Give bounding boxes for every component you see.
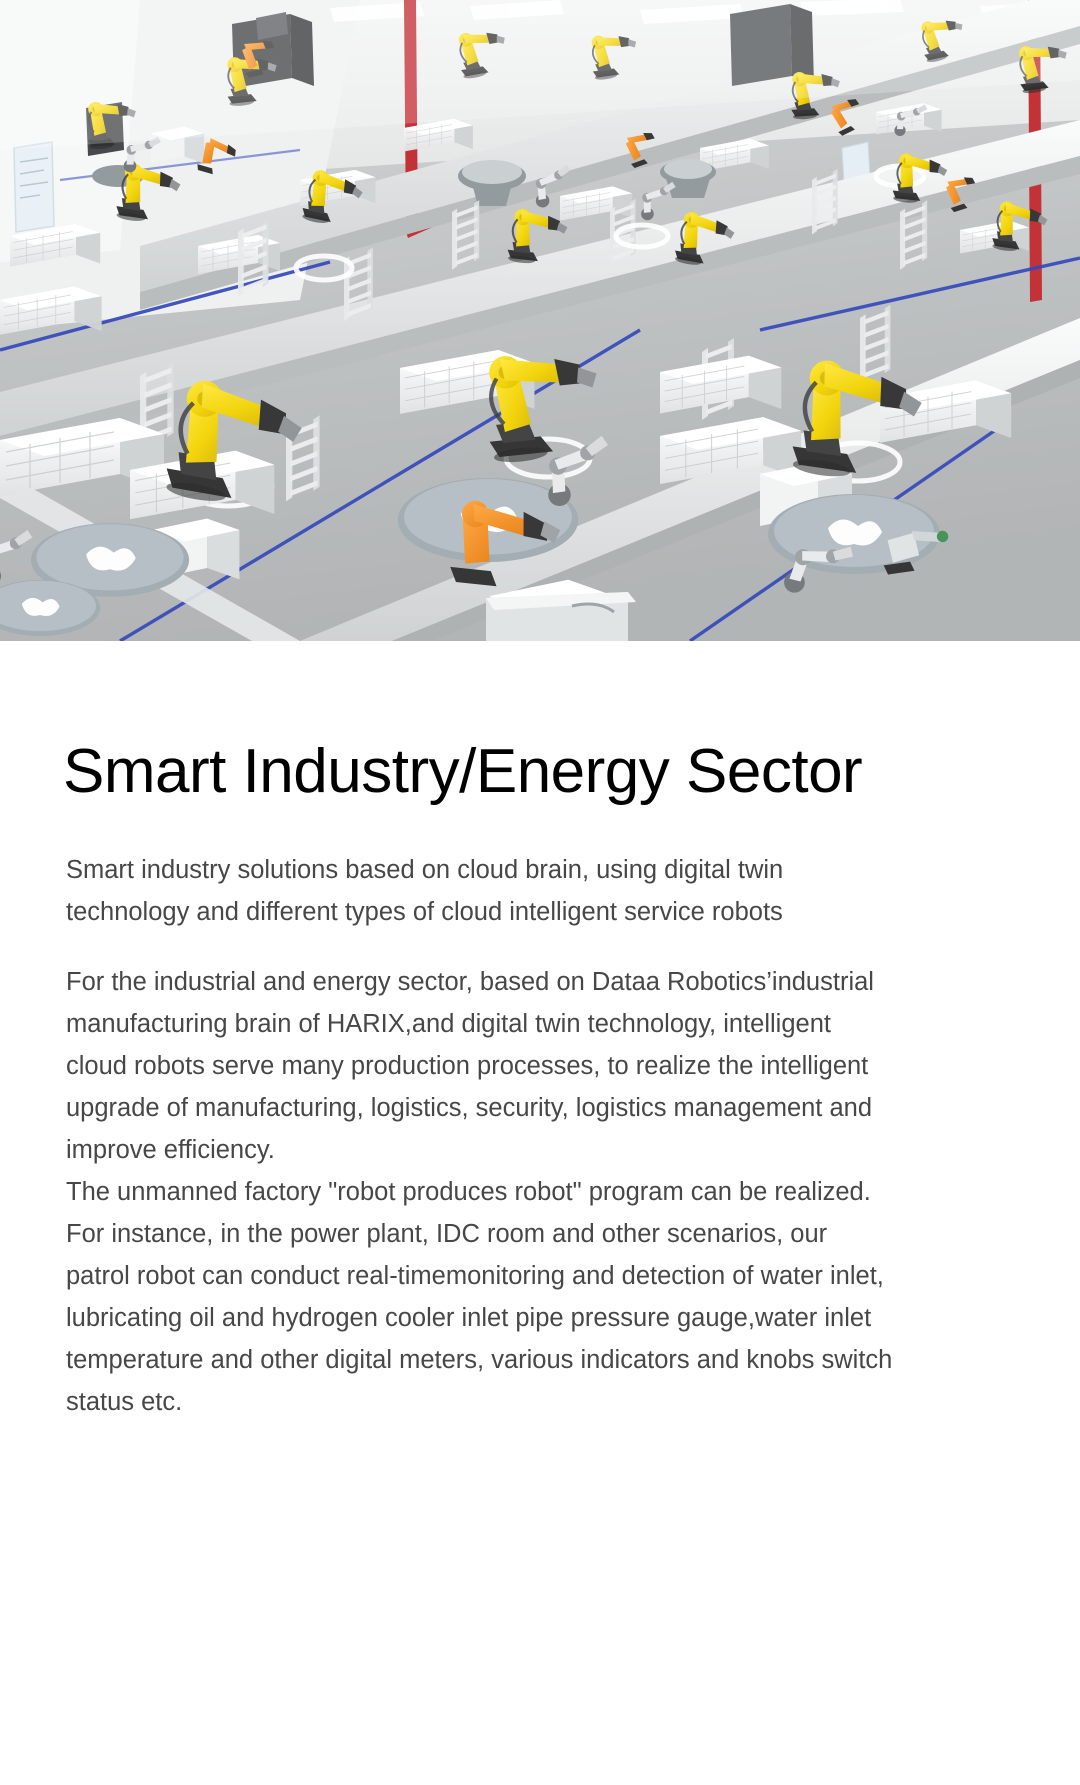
- article-body: Smart industry solutions based on cloud …: [66, 849, 896, 1423]
- smart-factory-illustration: [0, 0, 1080, 641]
- article-paragraph-3: For instance, in the power plant, IDC ro…: [66, 1213, 896, 1423]
- article-paragraph-1: For the industrial and energy sector, ba…: [66, 961, 896, 1171]
- article-lead-paragraph: Smart industry solutions based on cloud …: [66, 849, 896, 933]
- page-root: Smart Industry/Energy Sector Smart indus…: [0, 0, 1080, 1785]
- hero-image: [0, 0, 1080, 641]
- article-paragraph-2: The unmanned factory "robot produces rob…: [66, 1171, 896, 1213]
- page-title: Smart Industry/Energy Sector: [63, 741, 1043, 803]
